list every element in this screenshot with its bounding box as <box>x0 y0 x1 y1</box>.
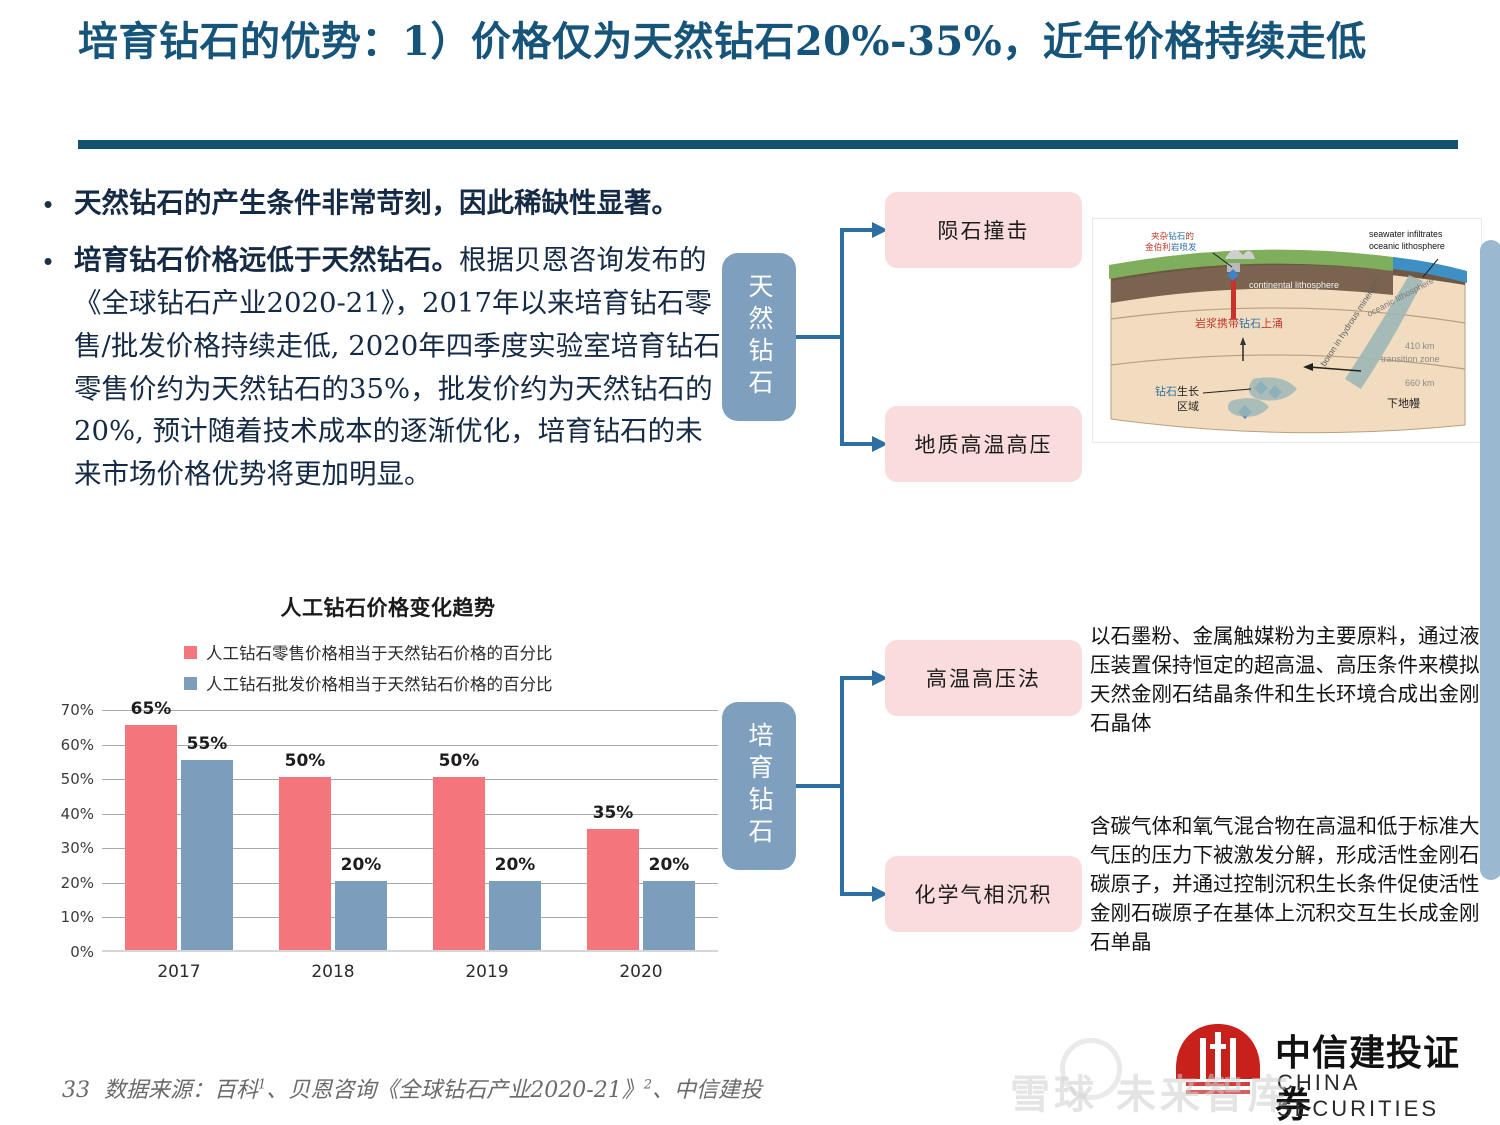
chart-bar-group: 50%20% <box>262 710 404 950</box>
bar-value-label: 55% <box>187 734 228 754</box>
svg-text:transition zone: transition zone <box>1381 354 1440 364</box>
chart-y-tick-label: 0% <box>70 943 94 961</box>
bullet-text: 培育钻石价格远低于天然钻石。根据贝恩咨询发布的《全球钻石产业2020-21》，2… <box>74 239 722 496</box>
geo-label-lower-mantle: 下地幔 <box>1387 397 1420 410</box>
title-block: 培育钻石的优势：1）价格仅为天然钻石20%-35%，近年价格持续走低 <box>78 14 1473 71</box>
flow-leaf-label: 陨石撞击 <box>938 215 1030 245</box>
bar-retail[interactable]: 65% <box>125 725 177 950</box>
brand-logo: 中信建投证券 CHINA SECURITIES 雪球 未来智库 <box>1170 1018 1470 1110</box>
chart-y-tick-label: 40% <box>61 805 94 823</box>
bar-retail[interactable]: 35% <box>587 829 639 950</box>
flow-diagram-lab-grown-diamond: 培育钻石 高温高压法 化学气相沉积 <box>722 640 1082 932</box>
footer-source-note: 33数据来源：百科1、贝恩咨询《全球钻石产业2020-21》2、中信建投 <box>62 1072 762 1104</box>
svg-text:区域: 区域 <box>1177 400 1199 413</box>
bar-value-label: 50% <box>439 751 480 771</box>
right-edge-rail-decoration <box>1480 240 1500 880</box>
watermark-text: 雪球 未来智库 <box>1010 1062 1340 1120</box>
bullet-body-text: 根据贝恩咨询发布的《全球钻石产业2020-21》，2017年以来培育钻石零售/批… <box>74 244 721 490</box>
chart-y-axis: 0%10%20%30%40%50%60%70% <box>52 710 98 952</box>
bar-value-label: 65% <box>131 699 172 719</box>
source-prefix: 数据来源：百科 <box>104 1078 258 1103</box>
chart-y-tick-label: 70% <box>61 701 94 719</box>
source-superscript-2: 2 <box>644 1078 652 1093</box>
flow-leaf-geologic-hpht: 地质高温高压 <box>885 406 1082 482</box>
chart-x-tick-label: 2019 <box>416 962 558 982</box>
list-item: • 天然钻石的产生条件非常苛刻，因此稀缺性显著。 <box>22 182 722 225</box>
chart-bar-group: 50%20% <box>416 710 558 950</box>
flow-leaf-label: 高温高压法 <box>926 663 1041 693</box>
geo-label-660: 660 km <box>1405 378 1435 388</box>
geo-label-410: 410 km <box>1405 341 1435 351</box>
chart-y-tick-label: 60% <box>61 736 94 754</box>
legend-label-retail: 人工钻石零售价格相当于天然钻石价格的百分比 <box>206 640 553 664</box>
side-note-hpht: 以石墨粉、金属触媒粉为主要原料，通过液压装置保持恒定的超高温、高压条件来模拟天然… <box>1090 622 1488 738</box>
chart-bar-group: 65%55% <box>108 710 250 950</box>
list-item: • 培育钻石价格远低于天然钻石。根据贝恩咨询发布的《全球钻石产业2020-21》… <box>22 239 722 496</box>
chart-bar-groups: 65%55%50%20%50%20%35%20% <box>102 710 718 950</box>
flow-root-natural-diamond: 天然钻石 <box>722 253 796 421</box>
bullet-strong-text: 天然钻石的产生条件非常苛刻，因此稀缺性显著。 <box>74 187 679 219</box>
flow-connector-lines <box>796 640 888 932</box>
bar-wholesale[interactable]: 20% <box>335 881 387 950</box>
side-note-cvd: 含碳气体和氧气混合物在高温和低于标准大气压的压力下被激发分解，形成活性金刚石碳原… <box>1090 812 1488 958</box>
flow-leaf-label: 化学气相沉积 <box>915 879 1053 909</box>
chart-y-tick-label: 10% <box>61 908 94 926</box>
flow-connector-lines <box>796 192 888 482</box>
bar-value-label: 35% <box>593 803 634 823</box>
geo-label-kimberlite: 夹杂钻石的 <box>1151 230 1194 242</box>
price-trend-chart: 人工钻石价格变化趋势 人工钻石零售价格相当于天然钻石价格的百分比 人工钻石批发价… <box>52 592 724 990</box>
flow-root-lab-grown-diamond: 培育钻石 <box>722 702 796 870</box>
bullet-strong-text: 培育钻石价格远低于天然钻石。 <box>74 244 459 276</box>
title-underline-rule <box>78 140 1458 149</box>
legend-swatch-retail <box>184 646 197 659</box>
bar-value-label: 20% <box>341 855 382 875</box>
bar-retail[interactable]: 50% <box>279 777 331 950</box>
page-title: 培育钻石的优势：1）价格仅为天然钻石20%-35%，近年价格持续走低 <box>78 14 1473 71</box>
bar-value-label: 20% <box>495 855 536 875</box>
legend-item-wholesale: 人工钻石批发价格相当于天然钻石价格的百分比 <box>184 671 724 695</box>
bullet-marker-icon: • <box>22 182 74 224</box>
flow-diagram-natural-diamond: 天然钻石 陨石撞击 地质高温高压 <box>722 192 1082 482</box>
flow-root-label: 培育钻石 <box>741 722 777 850</box>
flow-leaf-hpht-method: 高温高压法 <box>885 640 1082 716</box>
chart-title: 人工钻石价格变化趋势 <box>52 592 724 622</box>
bullet-marker-icon: • <box>22 239 74 281</box>
svg-text:oceanic lithosphere: oceanic lithosphere <box>1369 241 1445 251</box>
flow-leaf-label: 地质高温高压 <box>915 429 1053 459</box>
geo-label-seawater: seawater infiltrates <box>1369 229 1443 239</box>
bar-wholesale[interactable]: 20% <box>643 881 695 950</box>
chart-x-tick-label: 2017 <box>108 962 250 982</box>
svg-text:金伯利岩喷发: 金伯利岩喷发 <box>1145 241 1197 253</box>
geo-label-growth: 钻石生长 <box>1155 384 1199 398</box>
bar-value-label: 50% <box>285 751 326 771</box>
bar-value-label: 20% <box>649 855 690 875</box>
geology-cross-section-figure: 夹杂钻石的 金伯利岩喷发 seawater infiltrates oceani… <box>1092 218 1482 443</box>
chart-legend: 人工钻石零售价格相当于天然钻石价格的百分比 人工钻石批发价格相当于天然钻石价格的… <box>52 640 724 695</box>
flow-leaf-cvd-method: 化学气相沉积 <box>885 856 1082 932</box>
source-suffix: 、中信建投 <box>652 1078 762 1103</box>
flow-leaf-meteorite-impact: 陨石撞击 <box>885 192 1082 268</box>
chart-bar-group: 35%20% <box>570 710 712 950</box>
geo-label-continental: continental lithosphere <box>1249 280 1339 290</box>
slide-canvas: 培育钻石的优势：1）价格仅为天然钻石20%-35%，近年价格持续走低 • 天然钻… <box>0 0 1500 1125</box>
chart-y-tick-label: 30% <box>61 839 94 857</box>
page-number: 33 <box>62 1078 90 1103</box>
chart-x-axis: 2017201820192020 <box>102 962 718 982</box>
chart-y-tick-label: 20% <box>61 874 94 892</box>
chart-x-tick-label: 2020 <box>570 962 712 982</box>
bar-retail[interactable]: 50% <box>433 777 485 950</box>
geo-label-magma: 岩浆携带钻石上涌 <box>1195 316 1283 330</box>
legend-label-wholesale: 人工钻石批发价格相当于天然钻石价格的百分比 <box>206 671 553 695</box>
bar-wholesale[interactable]: 20% <box>489 881 541 950</box>
chart-plot-wrap: 0%10%20%30%40%50%60%70% 65%55%50%20%50%2… <box>52 710 724 990</box>
chart-x-tick-label: 2018 <box>262 962 404 982</box>
legend-swatch-wholesale <box>184 677 197 690</box>
bullet-text: 天然钻石的产生条件非常苛刻，因此稀缺性显著。 <box>74 182 679 225</box>
geology-diagram-svg: 夹杂钻石的 金伯利岩喷发 seawater infiltrates oceani… <box>1093 219 1482 443</box>
bar-wholesale[interactable]: 55% <box>181 760 233 950</box>
flow-root-label: 天然钻石 <box>741 273 777 401</box>
source-mid: 、贝恩咨询《全球钻石产业2020-21》 <box>266 1078 643 1103</box>
chart-y-tick-label: 50% <box>61 770 94 788</box>
legend-item-retail: 人工钻石零售价格相当于天然钻石价格的百分比 <box>184 640 724 664</box>
chart-plot-area: 65%55%50%20%50%20%35%20% <box>102 710 718 952</box>
bullet-list: • 天然钻石的产生条件非常苛刻，因此稀缺性显著。 • 培育钻石价格远低于天然钻石… <box>22 182 722 510</box>
